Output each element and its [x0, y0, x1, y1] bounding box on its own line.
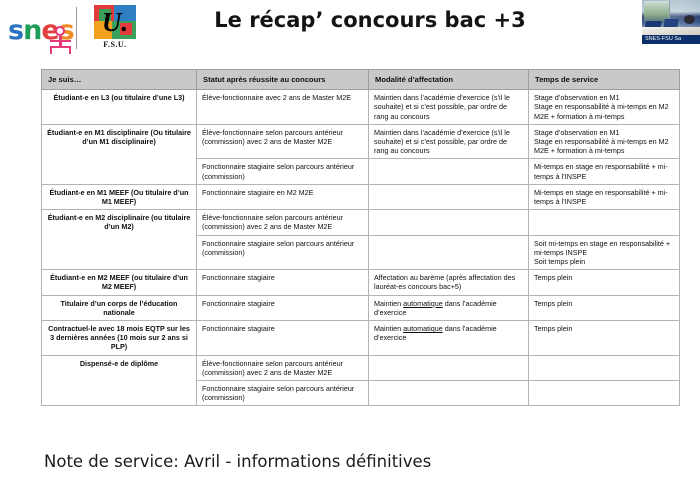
cell-temps: Temps plein — [529, 270, 680, 295]
cell-statut: Fonctionnaire stagiaire selon parcours a… — [197, 381, 369, 406]
video-label: SNES-FSU Sa — [642, 35, 700, 44]
cell-statut: Fonctionnaire stagiaire en M2 M2E — [197, 184, 369, 209]
table-row: Étudiant-e en M1 disciplinaire (Ou titul… — [42, 124, 680, 159]
cell-statut: Élève-fonctionnaire avec 2 ans de Master… — [197, 90, 369, 125]
cell-statut: Élève-fonctionnaire selon parcours antér… — [197, 355, 369, 380]
person-icon — [45, 26, 75, 56]
column-header-modalite: Modalité d’affectation — [369, 70, 529, 90]
table-header: Je suis… Statut après réussite au concou… — [42, 70, 680, 90]
cell-statut: Fonctionnaire stagiaire — [197, 321, 369, 356]
cell-temps: Stage d’observation en M1Stage en respon… — [529, 124, 680, 159]
cell-statut: Élève-fonctionnaire selon parcours antér… — [197, 210, 369, 235]
logo-divider — [76, 7, 77, 49]
fsu-caption: F.S.U. — [86, 40, 144, 49]
row-category-cell: Étudiant-e en M2 disciplinaire (ou titul… — [42, 210, 197, 270]
fsu-squares-icon: U. — [94, 5, 136, 39]
row-category-cell: Étudiant-e en L3 (ou titulaire d’une L3) — [42, 90, 197, 125]
row-category-cell: Contractuel-le avec 18 mois EQTP sur les… — [42, 321, 197, 356]
cell-statut: Fonctionnaire stagiaire selon parcours a… — [197, 235, 369, 270]
row-category-cell: Dispensé-e de diplôme — [42, 355, 197, 406]
snes-wordmark: snes — [8, 17, 76, 44]
page-title: Le récap’ concours bac +3 — [170, 8, 570, 32]
table-row: Étudiant-e en M2 disciplinaire (ou titul… — [42, 210, 680, 235]
column-header-je-suis: Je suis… — [42, 70, 197, 90]
table-row: Étudiant-e en L3 (ou titulaire d’une L3)… — [42, 90, 680, 125]
cell-temps: Soit mi-temps en stage en responsabilité… — [529, 235, 680, 270]
fsu-letter: U. — [94, 5, 136, 39]
cell-modalite — [369, 381, 529, 406]
snes-letter-s1: s — [8, 15, 23, 46]
table-row: Contractuel-le avec 18 mois EQTP sur les… — [42, 321, 680, 356]
cell-temps: Mi-temps en stage en responsabilité + mi… — [529, 184, 680, 209]
footer-note: Note de service: Avril - informations dé… — [44, 452, 431, 471]
cell-modalite: Maintien automatique dans l’académie d’e… — [369, 295, 529, 320]
table-row: Étudiant-e en M1 MEEF (Ou titulaire d’un… — [42, 184, 680, 209]
table-body: Étudiant-e en L3 (ou titulaire d’une L3)… — [42, 90, 680, 406]
column-header-statut: Statut après réussite au concours — [197, 70, 369, 90]
row-category-cell: Titulaire d’un corps de l’éducation nati… — [42, 295, 197, 320]
video-thumbnail[interactable]: SNES-FSU Sa — [642, 0, 700, 44]
cell-modalite — [369, 355, 529, 380]
fsu-logo: U. F.S.U. — [86, 5, 144, 55]
cell-temps — [529, 381, 680, 406]
table-header-row: Je suis… Statut après réussite au concou… — [42, 70, 680, 90]
cell-modalite — [369, 235, 529, 270]
cell-temps: Mi-temps en stage en responsabilité + mi… — [529, 159, 680, 184]
video-thumbnail-image — [642, 0, 700, 36]
slide-canvas: snes U. F.S.U. Le récap’ concours bac +3 — [0, 0, 700, 499]
table-row: Dispensé-e de diplômeÉlève-fonctionnaire… — [42, 355, 680, 380]
cell-modalite: Maintien automatique dans l’académie d’e… — [369, 321, 529, 356]
table-row: Titulaire d’un corps de l’éducation nati… — [42, 295, 680, 320]
cell-temps: Temps plein — [529, 321, 680, 356]
column-header-temps: Temps de service — [529, 70, 680, 90]
cell-modalite: Maintien dans l’académie d’exercice (s’i… — [369, 90, 529, 125]
slide-header: snes U. F.S.U. Le récap’ concours bac +3 — [0, 0, 700, 62]
row-category-cell: Étudiant-e en M2 MEEF (ou titulaire d’un… — [42, 270, 197, 295]
cell-statut: Fonctionnaire stagiaire selon parcours a… — [197, 159, 369, 184]
cell-modalite — [369, 184, 529, 209]
row-category-cell: Étudiant-e en M1 MEEF (Ou titulaire d’un… — [42, 184, 197, 209]
cell-statut: Fonctionnaire stagiaire — [197, 295, 369, 320]
row-category-cell: Étudiant-e en M1 disciplinaire (Ou titul… — [42, 124, 197, 184]
cell-modalite: Maintien dans l’académie d’exercice (s’i… — [369, 124, 529, 159]
cell-temps: Stage d’observation en M1Stage en respon… — [529, 90, 680, 125]
cell-modalite: Affectation au barème (après affectation… — [369, 270, 529, 295]
cell-temps: Temps plein — [529, 295, 680, 320]
recap-table: Je suis… Statut après réussite au concou… — [41, 69, 680, 406]
cell-modalite — [369, 210, 529, 235]
table-row: Étudiant-e en M2 MEEF (ou titulaire d’un… — [42, 270, 680, 295]
snes-letter-n: n — [23, 15, 41, 46]
cell-statut: Fonctionnaire stagiaire — [197, 270, 369, 295]
cell-temps — [529, 355, 680, 380]
cell-statut: Élève-fonctionnaire selon parcours antér… — [197, 124, 369, 159]
cell-modalite — [369, 159, 529, 184]
cell-temps — [529, 210, 680, 235]
